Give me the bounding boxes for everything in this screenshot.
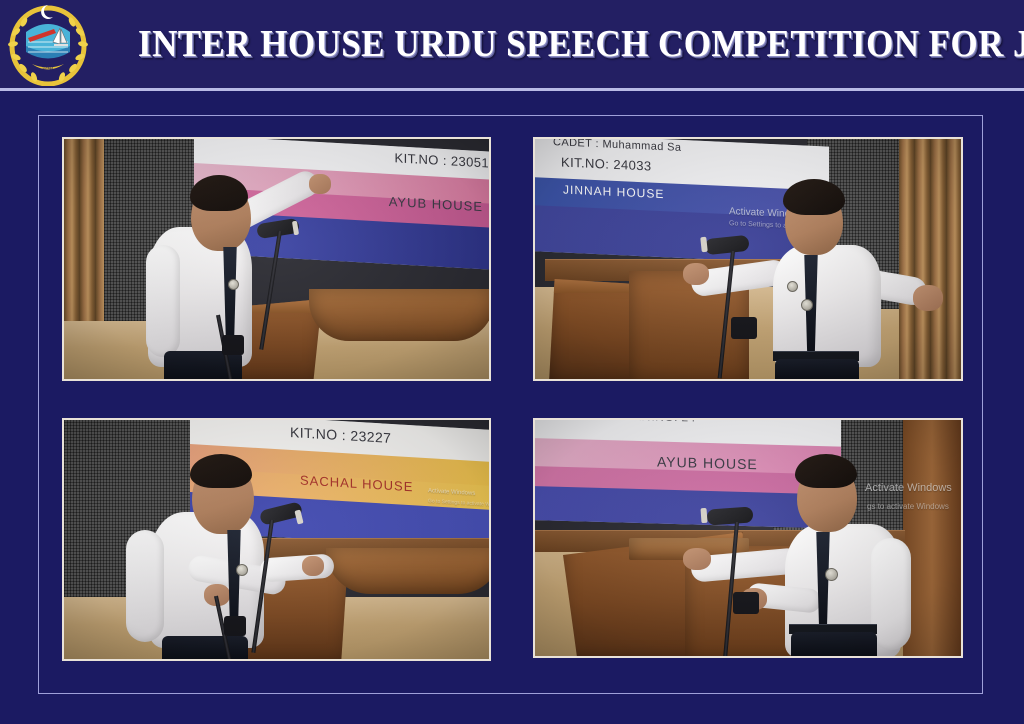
photo-card-top-left[interactable]: KIT.NO : 23051 AYUB HOUSE: [62, 137, 491, 381]
photo-card-bottom-left[interactable]: KIT.NO : 23227 SACHAL HOUSE Activate Win…: [62, 418, 491, 661]
page-header: کیڈٹ INTER HOUSE URDU SPEECH COMPETITION…: [0, 0, 1024, 88]
photo-card-top-right[interactable]: CADET : Muhammad Sa KIT.NO: 24033 JINNAH…: [533, 137, 963, 381]
page-title: INTER HOUSE URDU SPEECH COMPETITION FOR …: [138, 22, 1024, 66]
windows-activation-subtext: gs to activate Windows: [867, 502, 949, 511]
photo-card-bottom-right[interactable]: KIT.NO: 24 AYUB HOUSE Activate Windows g…: [533, 418, 963, 658]
screen-house-name: AYUB HOUSE: [657, 454, 758, 473]
school-crest-logo: کیڈٹ: [0, 0, 96, 88]
windows-activation-watermark: Activate Windows: [865, 482, 952, 494]
header-divider-shadow: [0, 91, 1024, 93]
crest-icon: کیڈٹ: [8, 2, 88, 86]
svg-text:کیڈٹ: کیڈٹ: [42, 65, 54, 71]
